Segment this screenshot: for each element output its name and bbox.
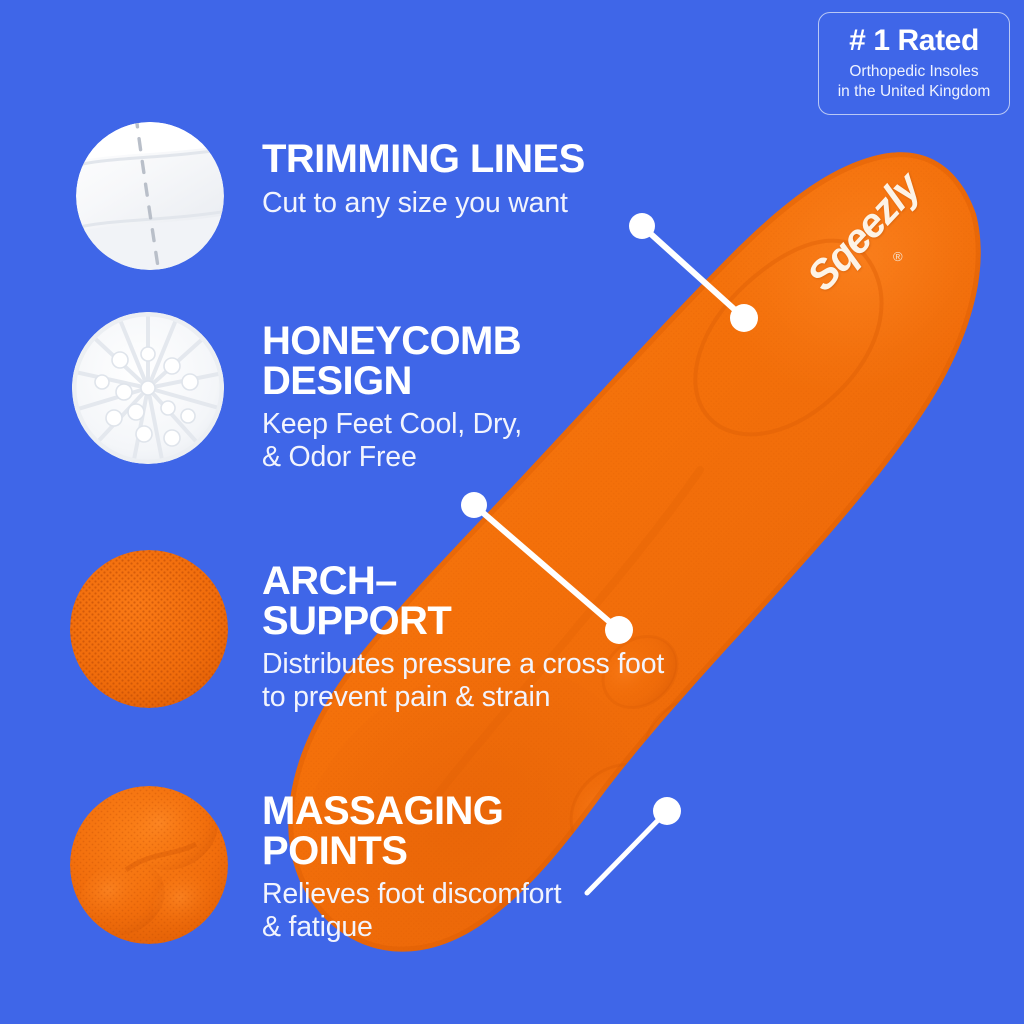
feature-massaging-points-subtitle-line2: & fatigue [262, 911, 373, 943]
rating-badge-subtitle-line1: Orthopedic Insoles [827, 62, 1001, 82]
rating-badge-subtitle-line2: in the United Kingdom [827, 82, 1001, 102]
feature-arch-support-subtitle-line1: Distributes pressure a cross foot [262, 648, 664, 680]
feature-trimming-lines-heading: TRIMMING LINES [262, 140, 662, 180]
feature-arch-support-subtitle: Distributes pressure a cross foot to pre… [262, 648, 782, 714]
feature-honeycomb-design-heading-line1: HONEYCOMB [262, 319, 521, 363]
feature-arch-support-heading-line2: SUPPORT [262, 599, 451, 643]
feature-massaging-points-heading-line1: MASSAGING [262, 789, 503, 833]
feature-arch-support-text: ARCH– SUPPORT Distributes pressure a cro… [262, 562, 782, 714]
feature-arch-support-subtitle-line2: to prevent pain & strain [262, 681, 550, 713]
feature-honeycomb-design-heading: HONEYCOMB DESIGN [262, 322, 682, 401]
feature-honeycomb-design-subtitle-line2: & Odor Free [262, 441, 417, 473]
honeycomb-design-thumbnail [72, 312, 224, 464]
feature-massaging-points-subtitle: Relieves foot discomfort & fatigue [262, 878, 692, 944]
trimming-lines-thumbnail [76, 122, 224, 270]
trademark-icon: ® [893, 250, 903, 263]
arch-support-thumbnail [70, 550, 228, 708]
feature-massaging-points-subtitle-line1: Relieves foot discomfort [262, 878, 561, 910]
feature-arch-support-heading: ARCH– SUPPORT [262, 562, 782, 641]
massaging-points-thumbnail [70, 786, 228, 944]
feature-massaging-points-heading: MASSAGING POINTS [262, 792, 692, 871]
rating-badge-subtitle: Orthopedic Insoles in the United Kingdom [827, 62, 1001, 102]
rating-badge: # 1 Rated Orthopedic Insoles in the Unit… [818, 12, 1010, 115]
feature-massaging-points-heading-line2: POINTS [262, 829, 407, 873]
feature-honeycomb-design-subtitle: Keep Feet Cool, Dry, & Odor Free [262, 408, 682, 474]
feature-arch-support-heading-line1: ARCH– [262, 559, 397, 603]
feature-honeycomb-design-heading-line2: DESIGN [262, 359, 412, 403]
feature-honeycomb-design-text: HONEYCOMB DESIGN Keep Feet Cool, Dry, & … [262, 322, 682, 474]
rating-badge-title: # 1 Rated [827, 25, 1001, 57]
feature-trimming-lines-subtitle: Cut to any size you want [262, 187, 662, 220]
infographic-canvas: Sqeezly ® # 1 Rated Orthopedic Insoles i… [0, 0, 1024, 1024]
feature-trimming-lines-text: TRIMMING LINES Cut to any size you want [262, 140, 662, 220]
feature-honeycomb-design-subtitle-line1: Keep Feet Cool, Dry, [262, 408, 522, 440]
feature-massaging-points-text: MASSAGING POINTS Relieves foot discomfor… [262, 792, 692, 944]
